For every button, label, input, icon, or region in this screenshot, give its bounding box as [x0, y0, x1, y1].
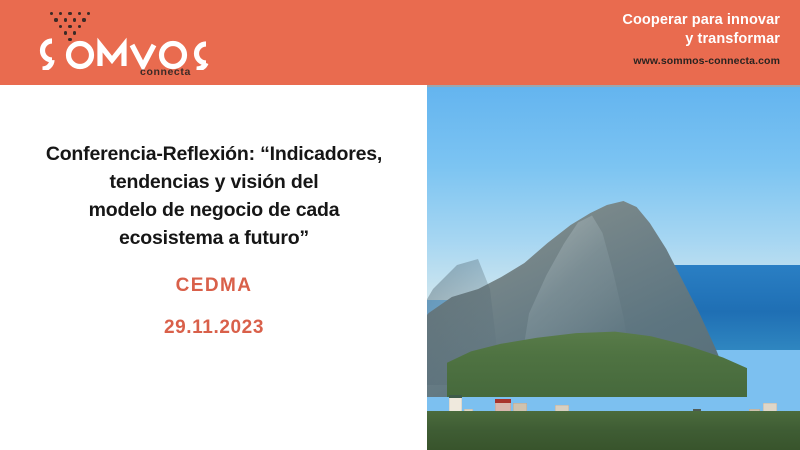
tagline-line-1: Cooperar para innovar	[622, 11, 780, 30]
tagline-line-2: y transformar	[622, 30, 780, 49]
calpe-penon-photo	[427, 85, 800, 450]
event-date: 29.11.2023	[14, 317, 414, 339]
title-line-1: Conferencia-Reflexión: “Indicadores,	[14, 141, 414, 169]
header-tagline-block: Cooperar para innovar y transformar www.…	[622, 11, 780, 67]
foreground-trees	[427, 411, 800, 450]
photo-top-edge	[427, 85, 800, 87]
organization-name: CEDMA	[14, 275, 414, 297]
page-title: Conferencia-Reflexión: “Indicadores, ten…	[14, 141, 414, 253]
website-url[interactable]: www.sommos-connecta.com	[622, 55, 780, 67]
sommos-logo: connecta	[28, 8, 228, 80]
title-line-4: ecosistema a futuro”	[14, 225, 414, 253]
brand-subtitle: connecta	[140, 66, 191, 78]
presentation-slide: connecta Cooperar para innovar y transfo…	[0, 0, 800, 450]
calpe-skyline	[427, 361, 800, 450]
header-bar: connecta Cooperar para innovar y transfo…	[0, 0, 800, 85]
title-line-3: modelo de negocio de cada	[14, 197, 414, 225]
content-panel: Conferencia-Reflexión: “Indicadores, ten…	[0, 85, 427, 450]
title-line-2: tendencias y visión del	[14, 169, 414, 197]
sommos-wordmark-icon	[28, 36, 218, 70]
